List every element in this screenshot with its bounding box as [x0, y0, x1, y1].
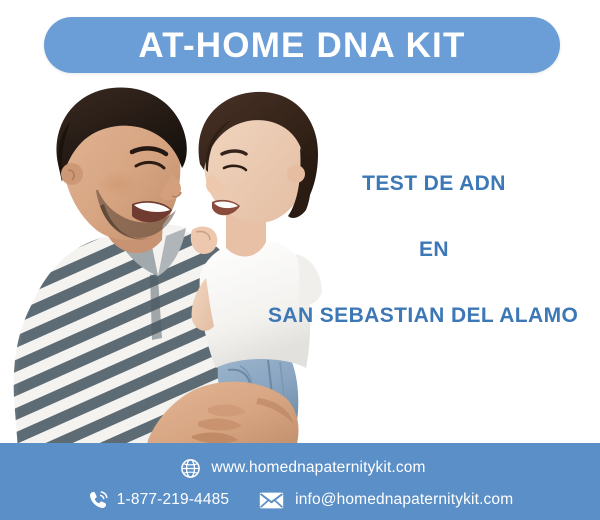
footer-item-email[interactable]: info@homednapaternitykit.com [259, 491, 513, 510]
dna-test-banner: AT-HOME DNA KIT [0, 0, 600, 520]
footer-row-website: www.homednapaternitykit.com [0, 453, 600, 483]
footer-row-phone-email: 1-877-219-4485 info@homednapaternitykit.… [0, 485, 600, 515]
footer-contact-bar: www.homednapaternitykit.com 1-877-219-44… [0, 443, 600, 520]
headline-line-test-de-adn: TEST DE ADN [268, 173, 600, 194]
footer-website-label: www.homednapaternitykit.com [211, 460, 425, 476]
header-badge-label: AT-HOME DNA KIT [138, 28, 465, 63]
globe-icon [180, 458, 201, 479]
footer-item-website[interactable]: www.homednapaternitykit.com [180, 458, 425, 479]
phone-icon [87, 489, 109, 511]
headline-line-location: SAN SEBASTIAN DEL ALAMO [268, 305, 600, 326]
headline-line-en: EN [268, 239, 600, 260]
footer-item-phone[interactable]: 1-877-219-4485 [87, 489, 229, 511]
envelope-icon [259, 491, 284, 510]
headline-block: TEST DE ADN EN SAN SEBASTIAN DEL ALAMO [268, 160, 600, 326]
footer-phone-label: 1-877-219-4485 [117, 492, 229, 508]
footer-email-label: info@homednapaternitykit.com [295, 492, 513, 508]
header-badge: AT-HOME DNA KIT [44, 17, 560, 73]
